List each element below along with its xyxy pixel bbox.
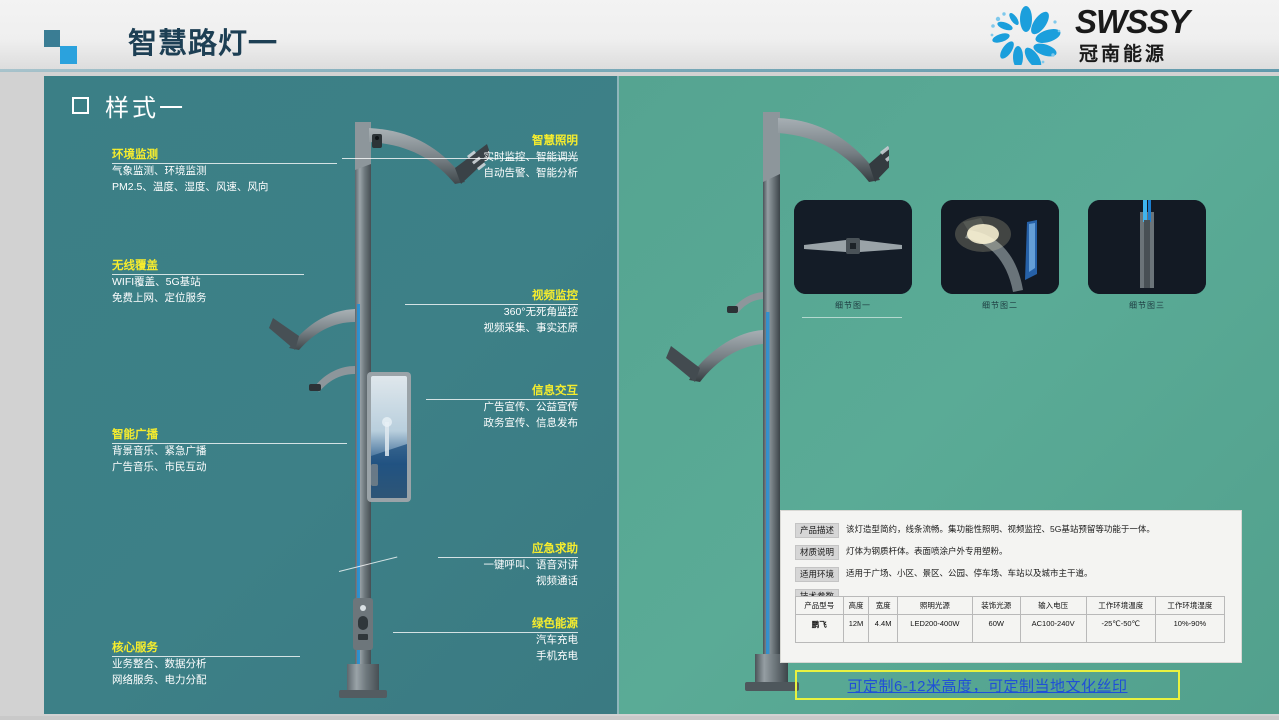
customization-banner: 可定制6-12米高度，可定制当地文化丝印 <box>795 670 1180 700</box>
table-header-cell: 高度 <box>843 597 869 615</box>
callout-title: 视频监控 <box>484 289 579 304</box>
table-cell: 鹏飞 <box>796 615 844 643</box>
callout-green-energy: 绿色能源 汽车充电 手机充电 <box>532 617 578 664</box>
callout-title: 环境监测 <box>112 148 268 163</box>
callout-line: 视频采集、事实还原 <box>484 320 579 336</box>
brand-logo: SWSSY 冠南能源 <box>983 3 1263 67</box>
callout-line: 网络服务、电力分配 <box>112 672 207 688</box>
callout-wireless-coverage: 无线覆盖 WIFI覆盖、5G基站 免费上网、定位服务 <box>112 259 207 306</box>
product-spec-card: 产品描述 该灯造型简约，线条流畅。集功能性照明、视频监控、5G基站预留等功能于一… <box>780 510 1242 663</box>
callout-line: PM2.5、温度、湿度、风速、风向 <box>112 179 268 195</box>
callout-line: 360°无死角监控 <box>484 304 579 320</box>
leader-line <box>393 632 578 633</box>
slide-root: 智慧路灯一 <box>0 0 1279 720</box>
callout-environment-monitoring: 环境监测 气象监测、环境监测 PM2.5、温度、湿度、风速、风向 <box>112 148 268 195</box>
leader-line <box>342 158 578 159</box>
thumbnail-caption: 细节图二 <box>941 300 1059 311</box>
callout-title: 核心服务 <box>112 641 207 656</box>
leader-line <box>426 399 578 400</box>
spec-text: 该灯造型简约，线条流畅。集功能性照明、视频监控、5G基站预留等功能于一体。 <box>846 523 1155 536</box>
callout-line: 背景音乐、紧急广播 <box>112 443 207 459</box>
style-heading-label: 样式一 <box>105 88 186 123</box>
customization-banner-text: 可定制6-12米高度，可定制当地文化丝印 <box>847 675 1127 696</box>
square-bullet-icon <box>72 97 89 114</box>
thumbnail-detail-2[interactable] <box>941 200 1059 294</box>
table-header-cell: 宽度 <box>869 597 897 615</box>
callout-line: WIFI覆盖、5G基站 <box>112 274 207 290</box>
thumbnail-detail-3[interactable] <box>1088 200 1206 294</box>
leader-line <box>112 274 304 275</box>
brand-wordmark: SWSSY <box>1075 5 1189 38</box>
spec-row-description: 产品描述 该灯造型简约，线条流畅。集功能性照明、视频监控、5G基站预留等功能于一… <box>795 523 1155 538</box>
table-header-cell: 照明光源 <box>897 597 972 615</box>
leader-line <box>438 557 578 558</box>
callout-title: 无线覆盖 <box>112 259 207 274</box>
table-cell: -25℃-50℃ <box>1086 615 1155 643</box>
table-header-cell: 产品型号 <box>796 597 844 615</box>
callout-video-surveillance: 视频监控 360°无死角监控 视频采集、事实还原 <box>484 289 579 336</box>
callout-title: 绿色能源 <box>532 617 578 632</box>
table-row: 鹏飞 12M 4.4M LED200-400W 60W AC100-240V -… <box>796 615 1225 643</box>
callout-title: 智能广播 <box>112 428 207 443</box>
leader-line <box>112 163 337 164</box>
table-header-cell: 装饰光源 <box>972 597 1020 615</box>
callout-title: 应急求助 <box>484 542 579 557</box>
smart-streetlight-illustration <box>259 104 489 704</box>
table-header-row: 产品型号 高度 宽度 照明光源 装饰光源 输入电压 工作环境温度 工作环境湿度 <box>796 597 1225 615</box>
spec-tag: 材质说明 <box>795 545 839 560</box>
left-diagram-panel: 样式一 <box>44 76 617 714</box>
callout-title: 智慧照明 <box>484 134 579 149</box>
tech-params-table: 产品型号 高度 宽度 照明光源 装饰光源 输入电压 工作环境温度 工作环境湿度 … <box>795 596 1225 643</box>
spec-tag: 适用环境 <box>795 567 839 582</box>
table-header-cell: 工作环境湿度 <box>1155 597 1224 615</box>
table-cell: LED200-400W <box>897 615 972 643</box>
spec-text: 灯体为钢质杆体。表面喷涂户外专用塑粉。 <box>846 545 1008 558</box>
spec-tag: 产品描述 <box>795 523 839 538</box>
leader-line <box>405 304 578 305</box>
spec-row-environment: 适用环境 适用于广场、小区、景区、公园、停车场、车站以及城市主干道。 <box>795 567 1093 582</box>
callout-line: 一键呼叫、语音对讲 <box>484 557 579 573</box>
style-heading: 样式一 <box>72 88 186 123</box>
callout-line: 视频通话 <box>484 573 579 589</box>
table-header-cell: 输入电压 <box>1020 597 1086 615</box>
leader-line <box>112 656 300 657</box>
table-header-cell: 工作环境温度 <box>1086 597 1155 615</box>
header-square-blue-icon <box>60 46 77 64</box>
leader-line <box>112 443 347 444</box>
table-cell: 10%-90% <box>1155 615 1224 643</box>
header-divider <box>0 69 1279 72</box>
flower-petals-logo-icon <box>983 5 1069 65</box>
callout-line: 广告音乐、市民互动 <box>112 459 207 475</box>
callout-line: 政务宣传、信息发布 <box>484 415 579 431</box>
callout-line: 自动告警、智能分析 <box>484 165 579 181</box>
callout-line: 免费上网、定位服务 <box>112 290 207 306</box>
detail-thumbnails: 细节图一 细节图二 <box>794 200 1209 320</box>
table-cell: AC100-240V <box>1020 615 1086 643</box>
table-cell: 12M <box>843 615 869 643</box>
header-square-dark-icon <box>44 30 60 47</box>
page-header: 智慧路灯一 <box>0 0 1279 71</box>
callout-information-interaction: 信息交互 广告宣传、公益宣传 政务宣传、信息发布 <box>484 384 579 431</box>
thumbnail-caption: 细节图一 <box>794 300 912 311</box>
callout-core-services: 核心服务 业务整合、数据分析 网络服务、电力分配 <box>112 641 207 688</box>
thumbnail-detail-1[interactable] <box>794 200 912 294</box>
callout-line: 广告宣传、公益宣传 <box>484 399 579 415</box>
footer-strip <box>0 716 1279 720</box>
table-cell: 60W <box>972 615 1020 643</box>
callout-smart-broadcast: 智能广播 背景音乐、紧急广播 广告音乐、市民互动 <box>112 428 207 475</box>
spec-row-material: 材质说明 灯体为钢质杆体。表面喷涂户外专用塑粉。 <box>795 545 1008 560</box>
callout-title: 信息交互 <box>484 384 579 399</box>
callout-line: 汽车充电 <box>532 632 578 648</box>
thumbnail-caption: 细节图三 <box>1088 300 1206 311</box>
right-product-panel: 细节图一 细节图二 <box>619 76 1279 714</box>
thumbnail-underline <box>802 317 902 318</box>
callout-line: 业务整合、数据分析 <box>112 656 207 672</box>
spec-text: 适用于广场、小区、景区、公园、停车场、车站以及城市主干道。 <box>846 567 1093 580</box>
callout-line: 气象监测、环境监测 <box>112 163 268 179</box>
callout-line: 实时监控、智能调光 <box>484 149 579 165</box>
brand-subtitle: 冠南能源 <box>1079 39 1167 66</box>
callout-emergency-help: 应急求助 一键呼叫、语音对讲 视频通话 <box>484 542 579 589</box>
callout-line: 手机充电 <box>532 648 578 664</box>
page-title: 智慧路灯一 <box>128 20 278 62</box>
table-cell: 4.4M <box>869 615 897 643</box>
